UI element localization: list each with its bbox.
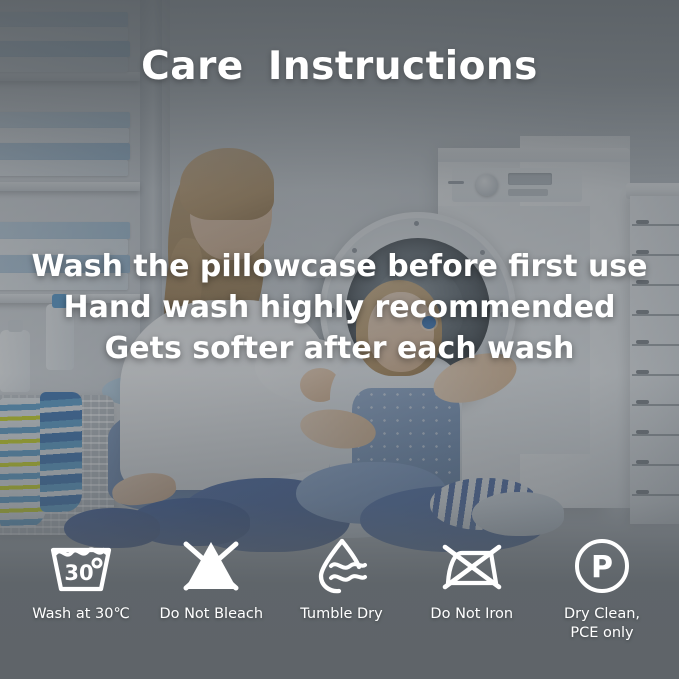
page-title: Care Instructions [0, 44, 679, 89]
care-symbol-label: Tumble Dry [300, 605, 382, 624]
care-instructions-graphic: Care Instructions Wash the pillowcase be… [0, 0, 679, 679]
content-layer: Care Instructions Wash the pillowcase be… [0, 0, 679, 679]
instruction-line: Hand wash highly recommended [0, 287, 679, 328]
care-symbol-dry-clean: P Dry Clean, PCE only [539, 535, 665, 643]
instruction-line: Gets softer after each wash [0, 328, 679, 369]
svg-text:P: P [591, 550, 613, 585]
wash-tub-30-icon: 30 [48, 535, 114, 597]
care-symbol-do-not-iron: Do Not Iron [409, 535, 535, 624]
do-not-bleach-triangle-icon [178, 535, 244, 597]
care-symbol-do-not-bleach: Do Not Bleach [148, 535, 274, 624]
care-symbol-tumble-dry: Tumble Dry [279, 535, 405, 624]
care-symbols-row: 30 Wash at 30℃ Do Not Bleach [18, 535, 665, 643]
tumble-dry-droplet-icon [309, 535, 375, 597]
care-symbol-wash-at-30: 30 Wash at 30℃ [18, 535, 144, 624]
care-symbol-label: Do Not Iron [430, 605, 513, 624]
instruction-list: Wash the pillowcase before first use Han… [0, 246, 679, 369]
care-symbol-label: Dry Clean, PCE only [564, 605, 640, 643]
do-not-iron-icon [439, 535, 505, 597]
dry-clean-p-circle-icon: P [569, 535, 635, 597]
svg-text:30: 30 [64, 561, 93, 585]
instruction-line: Wash the pillowcase before first use [0, 246, 679, 287]
care-symbol-label: Wash at 30℃ [32, 605, 130, 624]
care-symbol-label: Do Not Bleach [159, 605, 263, 624]
